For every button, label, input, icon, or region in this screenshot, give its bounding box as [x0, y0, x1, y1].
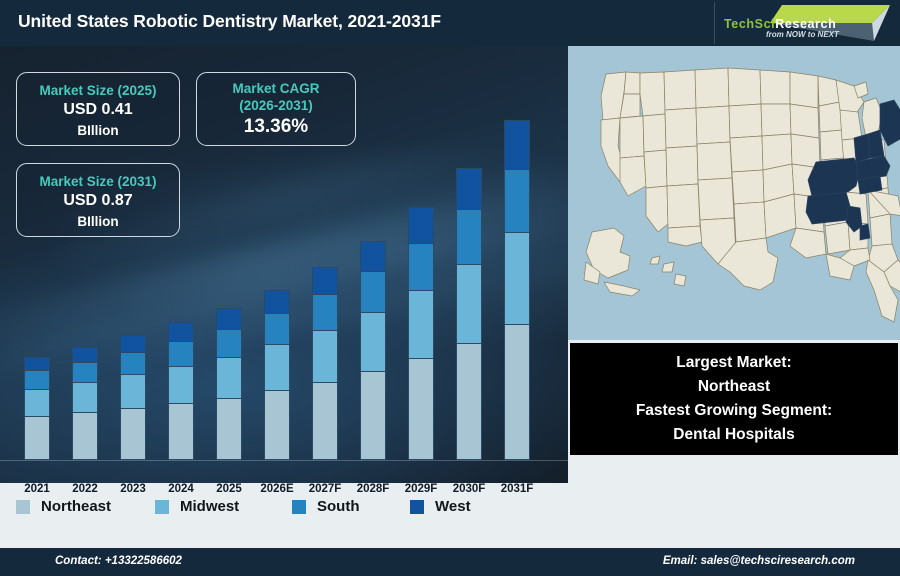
bar-segment-northeast [24, 416, 50, 460]
x-axis-label-2024: 2024 [157, 483, 205, 495]
bar-segment-west [72, 347, 98, 362]
bar-2024 [168, 322, 194, 460]
bar-segment-northeast [120, 408, 146, 460]
header-bar: United States Robotic Dentistry Market, … [0, 0, 900, 46]
legend-swatch-south [292, 500, 306, 514]
legend-item-northeast[interactable]: Northeast [16, 498, 111, 515]
info-line-1: Northeast [698, 375, 770, 399]
legend-swatch-west [410, 500, 424, 514]
bar-segment-northeast [312, 382, 338, 460]
legend-swatch-northeast [16, 500, 30, 514]
bar-segment-midwest [360, 312, 386, 371]
bar-segment-northeast [504, 324, 530, 460]
bar-segment-south [504, 169, 530, 232]
bar-2029F [408, 207, 434, 460]
bar-segment-south [456, 209, 482, 263]
footer-email: Email: sales@techsciresearch.com [663, 555, 855, 567]
legend-item-west[interactable]: West [410, 498, 471, 515]
bar-segment-midwest [504, 232, 530, 324]
bar-segment-northeast [216, 398, 242, 460]
bar-segment-west [360, 241, 386, 272]
bar-2026E [264, 290, 290, 460]
bar-segment-northeast [360, 371, 386, 460]
footer-contact: Contact: +13322586602 [55, 555, 182, 567]
bar-segment-midwest [24, 389, 50, 417]
bar-segment-midwest [168, 366, 194, 403]
bar-segment-south [72, 362, 98, 382]
legend-label-west: West [435, 498, 471, 515]
bar-segment-west [120, 335, 146, 352]
bar-segment-midwest [72, 382, 98, 412]
bar-segment-northeast [408, 358, 434, 460]
bar-segment-west [168, 322, 194, 341]
bar-segment-south [168, 341, 194, 366]
info-line-3: Dental Hospitals [673, 423, 794, 447]
bar-segment-midwest [216, 357, 242, 398]
bar-segment-midwest [408, 290, 434, 358]
legend-label-northeast: Northeast [41, 498, 111, 515]
bar-segment-west [456, 168, 482, 209]
bar-segment-south [120, 352, 146, 374]
bar-2028F [360, 241, 386, 461]
bar-2025 [216, 308, 242, 460]
logo-tagline: from NOW to NEXT [766, 30, 839, 39]
x-axis-label-2028F: 2028F [349, 483, 397, 495]
bar-2022 [72, 347, 98, 460]
bar-segment-south [408, 243, 434, 290]
x-axis-label-2027F: 2027F [301, 483, 349, 495]
bar-segment-northeast [168, 403, 194, 460]
chart-panel: Market Size (2025) USD 0.41 BIllion Mark… [0, 46, 568, 483]
x-axis-label-2031F: 2031F [493, 483, 541, 495]
bar-segment-south [24, 370, 50, 388]
bar-segment-west [24, 357, 50, 371]
bar-segment-south [216, 329, 242, 357]
x-axis-label-2025: 2025 [205, 483, 253, 495]
legend-label-south: South [317, 498, 360, 515]
bar-segment-west [312, 267, 338, 294]
bar-2027F [312, 267, 338, 460]
bar-segment-south [264, 313, 290, 344]
bar-segment-west [264, 290, 290, 314]
bar-segment-west [408, 207, 434, 243]
legend-swatch-midwest [155, 500, 169, 514]
logo-divider [714, 2, 715, 44]
bar-2021 [24, 357, 50, 460]
info-line-2: Fastest Growing Segment: [636, 399, 832, 423]
bar-segment-midwest [456, 264, 482, 343]
bar-segment-south [312, 294, 338, 330]
bar-2030F [456, 168, 482, 460]
x-axis-label-2023: 2023 [109, 483, 157, 495]
x-axis-label-2026E: 2026E [253, 483, 301, 495]
page-title: United States Robotic Dentistry Market, … [18, 11, 441, 32]
footer-bar: Contact: +13322586602 Email: sales@techs… [0, 548, 900, 576]
bar-2023 [120, 335, 146, 460]
x-axis-label-2029F: 2029F [397, 483, 445, 495]
bar-segment-west [216, 308, 242, 329]
x-axis-label-2030F: 2030F [445, 483, 493, 495]
infographic-root: United States Robotic Dentistry Market, … [0, 0, 900, 576]
bar-segment-midwest [120, 374, 146, 407]
legend-label-midwest: Midwest [180, 498, 239, 515]
bar-segment-northeast [456, 343, 482, 460]
bar-segment-midwest [264, 344, 290, 390]
legend-item-midwest[interactable]: Midwest [155, 498, 239, 515]
techsci-logo: TechSciResearch from NOW to NEXT [714, 0, 894, 46]
logo-techsci-text: TechSci [724, 17, 775, 31]
legend-item-south[interactable]: South [292, 498, 360, 515]
stacked-bar-plot [0, 46, 568, 483]
bar-segment-midwest [312, 330, 338, 382]
logo-research-text: Research [775, 17, 836, 31]
us-map-panel [568, 46, 900, 340]
x-axis-label-2022: 2022 [61, 483, 109, 495]
key-findings-box: Largest Market:NortheastFastest Growing … [570, 343, 898, 455]
bar-segment-northeast [72, 412, 98, 460]
logo-wordmark: TechSciResearch [724, 17, 836, 31]
bar-segment-northeast [264, 390, 290, 460]
bar-2031F [504, 120, 530, 460]
x-axis-label-2021: 2021 [13, 483, 61, 495]
info-line-0: Largest Market: [676, 351, 791, 375]
chart-legend: NortheastMidwestSouthWest [0, 498, 568, 532]
bar-segment-south [360, 271, 386, 312]
x-axis-line [0, 460, 568, 461]
bar-segment-west [504, 120, 530, 169]
united-states-map-icon [568, 46, 900, 340]
